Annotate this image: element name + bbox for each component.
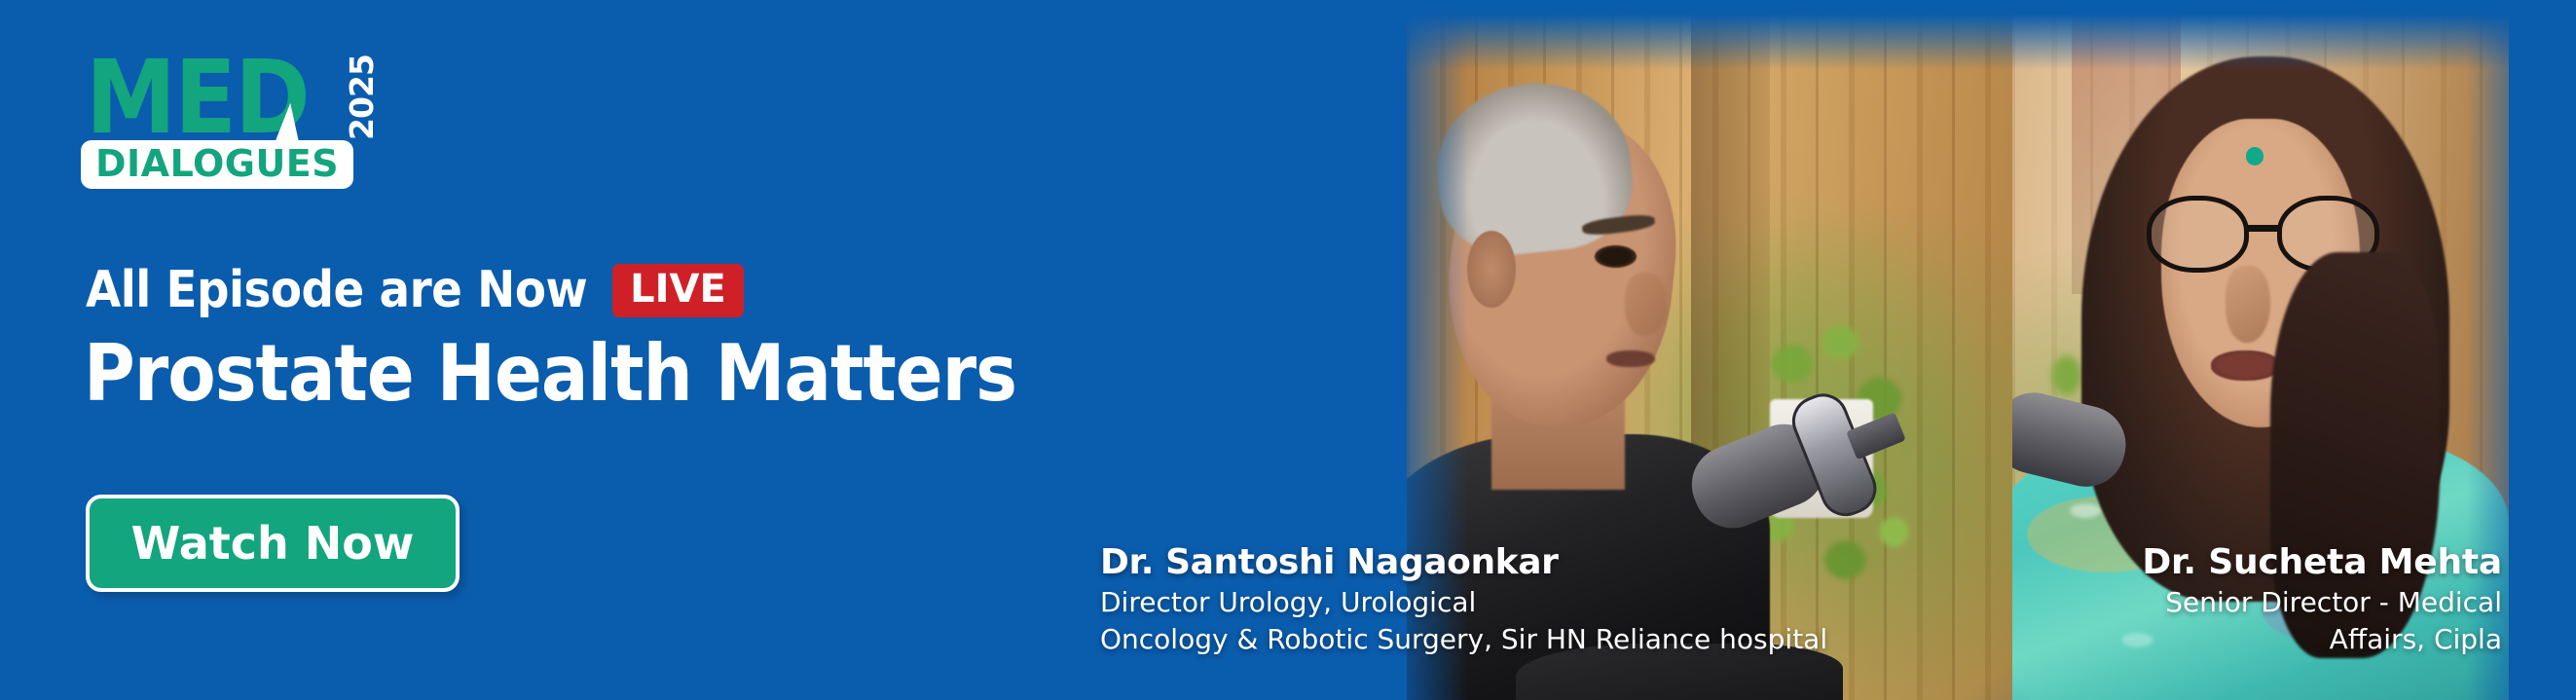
headline-kicker-row: All Episode are Now LIVE [86,261,744,319]
speaker-eye [1595,245,1638,268]
page-title: Prostate Health Matters [84,331,1016,417]
speaker-role-line-2: Affairs, Cipla [1937,621,2502,658]
med-dialogues-logo[interactable]: MED 2025 DIALOGUES [86,47,378,193]
watch-now-button[interactable]: Watch Now [86,495,460,592]
logo-year-2025: 2025 [343,51,382,144]
speaker-ear [1467,231,1516,308]
speaker-mouth [1606,350,1655,367]
watch-now-button-label: Watch Now [131,517,415,570]
speaker-caption-sucheta-mehta: Dr. Sucheta Mehta Senior Director - Medi… [1937,541,2502,658]
logo-dialogues-bubble: DIALOGUES [81,140,353,189]
banner-left-column: MED 2025 DIALOGUES All Episode are Now L… [0,0,1149,700]
speaker-mouth [2211,350,2280,382]
live-status-badge: LIVE [612,264,744,317]
speaker-role-line-1: Director Urology, Urological [1100,584,1827,621]
eyeglass-bridge [2247,225,2280,232]
microphone-stem [1846,412,1905,460]
speaker-role-line-1: Senior Director - Medical [1937,584,2502,621]
med-dialogues-banner: MED 2025 DIALOGUES All Episode are Now L… [0,0,2576,700]
headline-kicker: All Episode are Now [86,261,587,319]
speaker-bindi [2246,147,2263,166]
eyeglass-lens-left [2147,196,2249,273]
speaker-name: Dr. Sucheta Mehta [1937,541,2502,584]
logo-wordmark-dialogues: DIALOGUES [95,142,339,185]
speaker-caption-santoshi-nagaonkar: Dr. Santoshi Nagaonkar Director Urology,… [1100,541,1827,658]
speaker-name: Dr. Santoshi Nagaonkar [1100,541,1827,584]
speaker-role-line-2: Oncology & Robotic Surgery, Sir HN Relia… [1100,621,1827,658]
